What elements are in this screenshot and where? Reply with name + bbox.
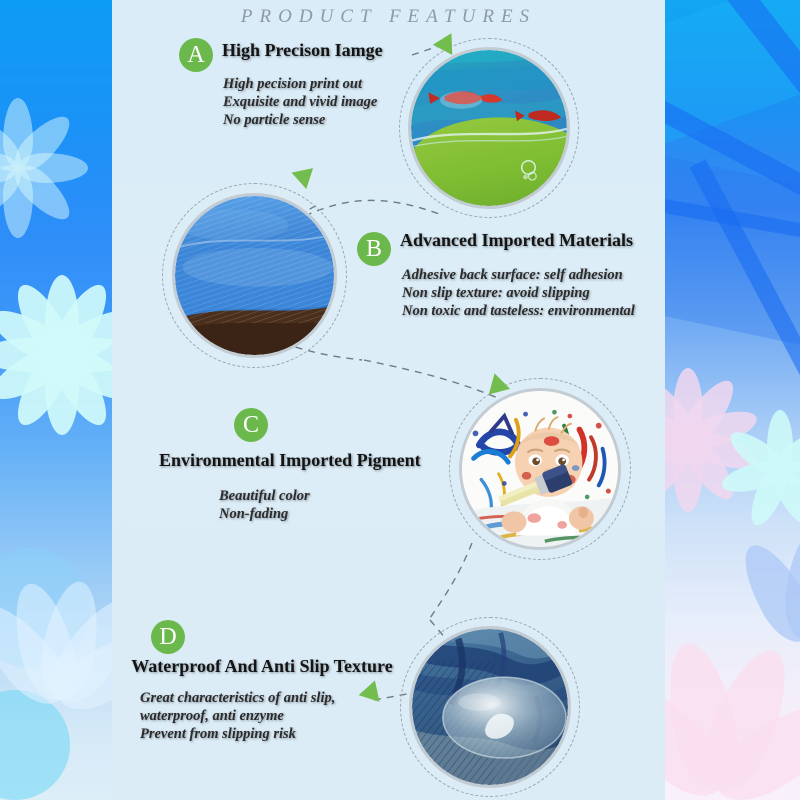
feature-image-c bbox=[449, 378, 631, 560]
left-decorative-strip bbox=[0, 0, 112, 800]
bg-blob bbox=[0, 690, 70, 800]
koi-pond-print-photo bbox=[411, 50, 567, 206]
body-b: Adhesive back surface: self adhesion Non… bbox=[402, 266, 635, 320]
heading-a: High Precison Iamge bbox=[222, 40, 383, 61]
body-line: Non toxic and tasteless: environmental bbox=[402, 302, 635, 320]
heading-c: Environmental Imported Pigment bbox=[159, 450, 421, 471]
body-line: Great characteristics of anti slip, bbox=[140, 689, 335, 707]
body-c: Beautiful color Non-fading bbox=[219, 487, 310, 523]
baby-with-paintbrush-photo bbox=[462, 391, 618, 547]
content-panel: PRODUCT FEATURES bbox=[112, 0, 665, 800]
badge-a: A bbox=[179, 38, 213, 72]
waterproof-droplet-photo bbox=[412, 629, 568, 785]
heading-d: Waterproof And Anti Slip Texture bbox=[112, 656, 412, 677]
photo-ring bbox=[409, 626, 571, 788]
body-line: Non-fading bbox=[219, 505, 310, 523]
body-line: Adhesive back surface: self adhesion bbox=[402, 266, 635, 284]
body-line: waterproof, anti enzyme bbox=[140, 707, 335, 725]
feature-image-b bbox=[162, 183, 347, 368]
badge-d: D bbox=[151, 620, 185, 654]
feature-image-d bbox=[400, 617, 580, 797]
badge-b: B bbox=[357, 232, 391, 266]
photo-ring bbox=[459, 388, 621, 550]
body-line: Non slip texture: avoid slipping bbox=[402, 284, 635, 302]
badge-c: C bbox=[234, 408, 268, 442]
heading-b: Advanced Imported Materials bbox=[400, 230, 633, 251]
feature-image-a bbox=[399, 38, 579, 218]
body-a: High pecision print out Exquisite and vi… bbox=[223, 75, 377, 129]
photo-ring bbox=[172, 193, 337, 358]
body-line: No particle sense bbox=[223, 111, 377, 129]
body-line: Beautiful color bbox=[219, 487, 310, 505]
body-line: Prevent from slipping risk bbox=[140, 725, 335, 743]
body-line: High pecision print out bbox=[223, 75, 377, 93]
blue-textured-fabric-photo bbox=[175, 196, 334, 355]
body-d: Great characteristics of anti slip, wate… bbox=[140, 689, 335, 743]
photo-ring bbox=[408, 47, 570, 209]
body-line: Exquisite and vivid image bbox=[223, 93, 377, 111]
